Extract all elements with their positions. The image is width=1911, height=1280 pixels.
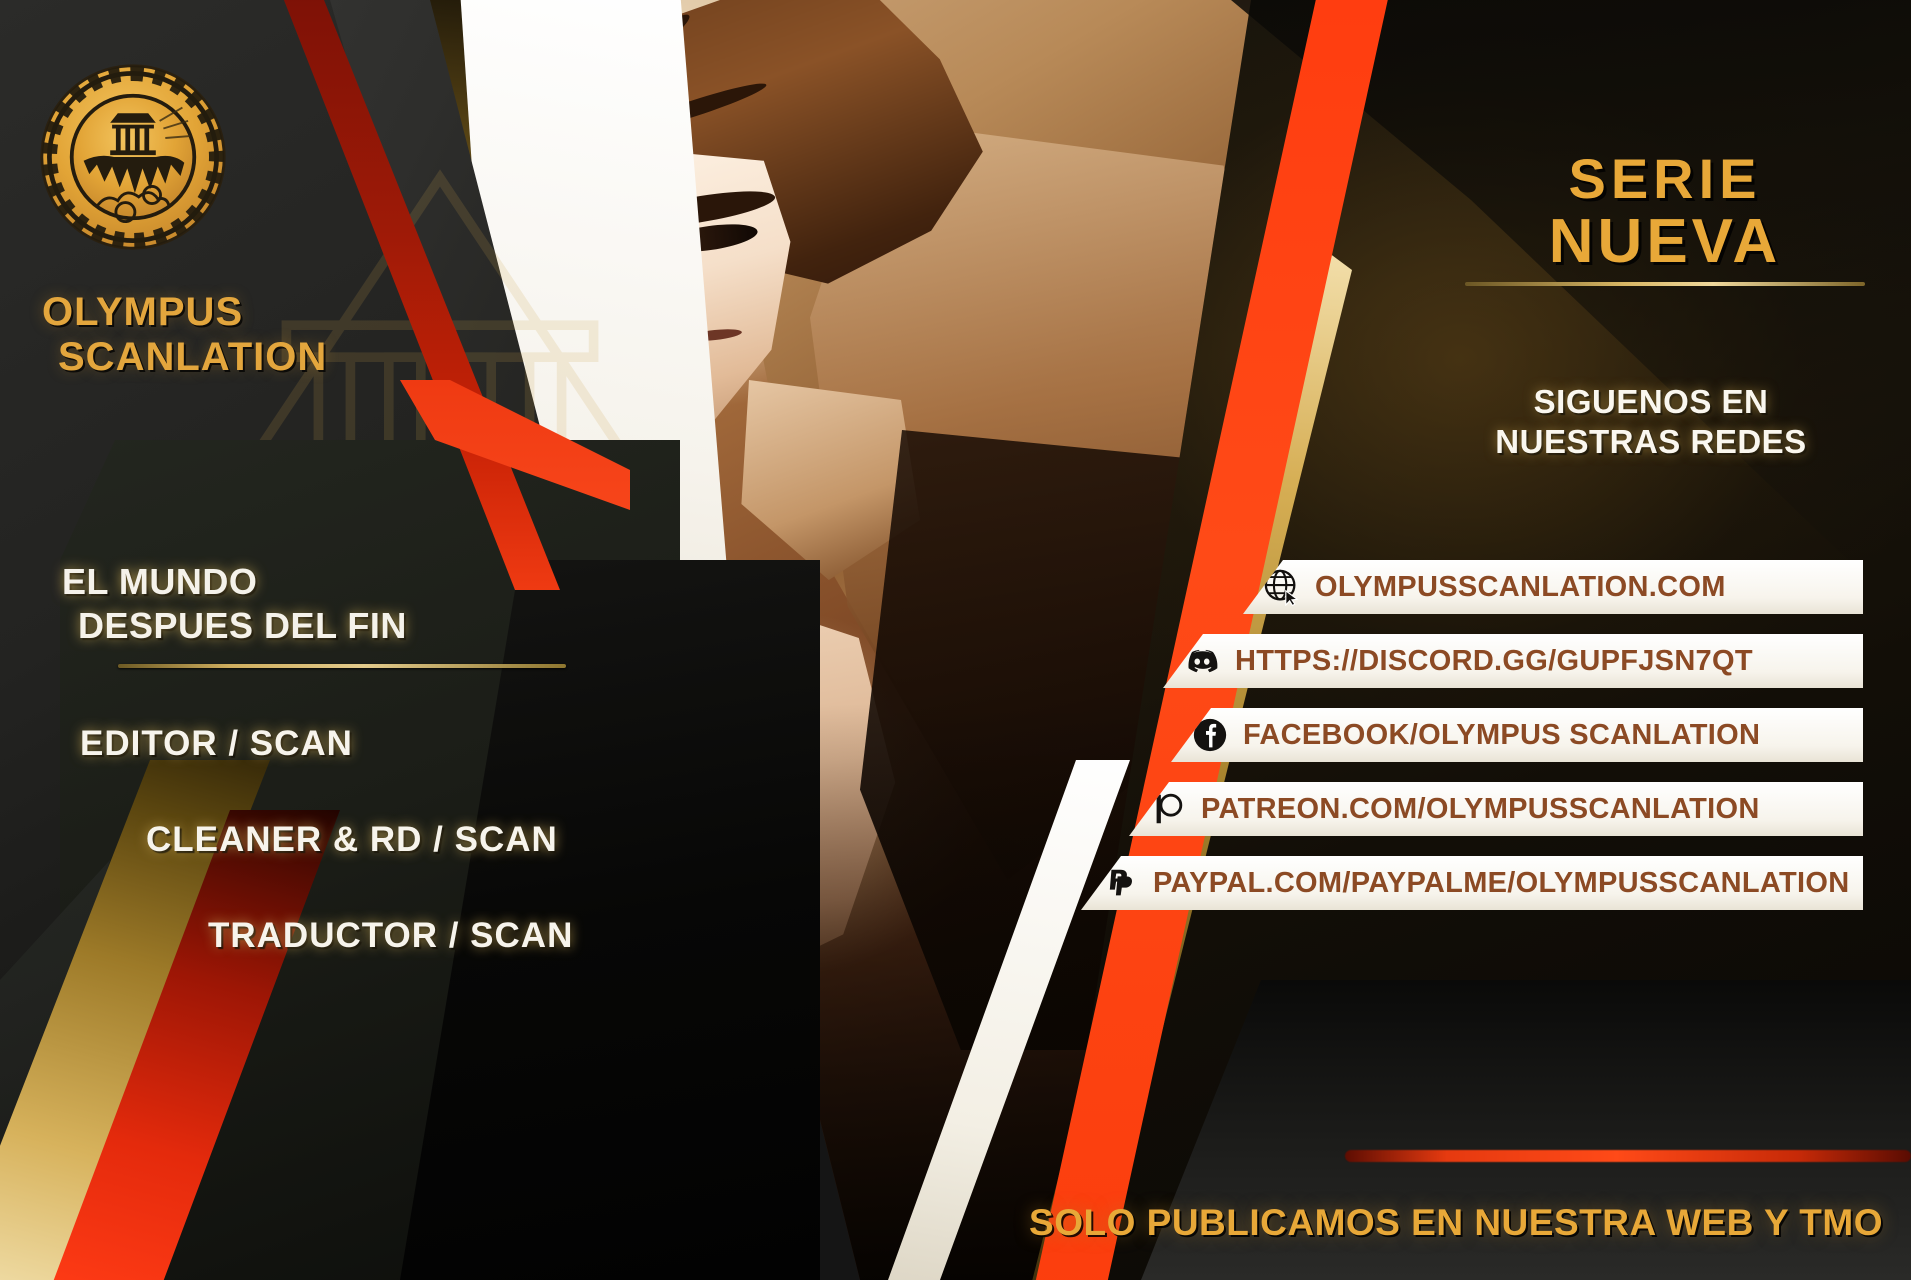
series-title-line-2: DESPUES DEL FIN — [78, 604, 700, 648]
social-link-paypal[interactable]: PAYPAL.COM/PAYPALME/OLYMPUSSCANLATION — [1081, 856, 1905, 910]
series-title: EL MUNDO DESPUES DEL FIN — [0, 560, 700, 648]
olympus-temple-logo-icon — [38, 62, 228, 252]
credit-role-translator: TRADUCTOR / SCAN — [208, 916, 700, 956]
promo-headline: SERIE NUEVA — [1455, 150, 1875, 286]
social-link-label: PATREON.COM/OLYMPUSSCANLATION — [1201, 793, 1760, 826]
brand-line-1: OLYMPUS — [42, 290, 422, 335]
globe-cursor-icon — [1263, 568, 1301, 606]
brand-name: OLYMPUS SCANLATION — [42, 290, 422, 380]
olympus-logo — [38, 62, 228, 252]
social-link-patreon[interactable]: PATREON.COM/OLYMPUSSCANLATION — [1129, 782, 1905, 836]
promo-headline-line-1: SERIE — [1455, 150, 1875, 209]
patreon-icon — [1149, 790, 1187, 828]
social-link-label: OLYMPUSSCANLATION.COM — [1315, 571, 1726, 604]
series-title-line-1: EL MUNDO — [62, 560, 700, 604]
footer-note: SOLO PUBLICAMOS EN NUESTRA WEB Y TMO — [1029, 1202, 1883, 1244]
discord-icon — [1183, 642, 1221, 680]
credits-block: EL MUNDO DESPUES DEL FIN EDITOR / SCAN C… — [0, 560, 700, 956]
social-link-discord[interactable]: HTTPS://DISCORD.GG/GUPFJSN7QT — [1163, 634, 1905, 688]
facebook-icon — [1191, 716, 1229, 754]
social-links-list: OLYMPUSSCANLATION.COM HTTPS://DISCORD.GG… — [1115, 560, 1905, 910]
promo-divider — [1465, 282, 1865, 286]
social-link-label: PAYPAL.COM/PAYPALME/OLYMPUSSCANLATION — [1153, 867, 1849, 900]
social-link-label: FACEBOOK/OLYMPUS SCANLATION — [1243, 719, 1760, 752]
social-link-facebook[interactable]: FACEBOOK/OLYMPUS SCANLATION — [1171, 708, 1905, 762]
brand-line-2: SCANLATION — [42, 335, 422, 380]
social-link-label: HTTPS://DISCORD.GG/GUPFJSN7QT — [1235, 645, 1753, 678]
credits-poster: OLYMPUS SCANLATION EL MUNDO DESPUES DEL … — [0, 0, 1911, 1280]
credit-role-cleaner: CLEANER & RD / SCAN — [146, 820, 700, 860]
follow-us-line-2: NUESTRAS REDES — [1421, 422, 1881, 462]
credits-divider — [118, 664, 566, 668]
promo-headline-line-2: NUEVA — [1455, 209, 1875, 276]
red-divider-rule — [1345, 1150, 1911, 1162]
social-link-website[interactable]: OLYMPUSSCANLATION.COM — [1243, 560, 1905, 614]
follow-us-line-1: SIGUENOS EN — [1421, 382, 1881, 422]
credit-role-editor: EDITOR / SCAN — [80, 724, 700, 764]
follow-us-heading: SIGUENOS EN NUESTRAS REDES — [1421, 382, 1881, 463]
